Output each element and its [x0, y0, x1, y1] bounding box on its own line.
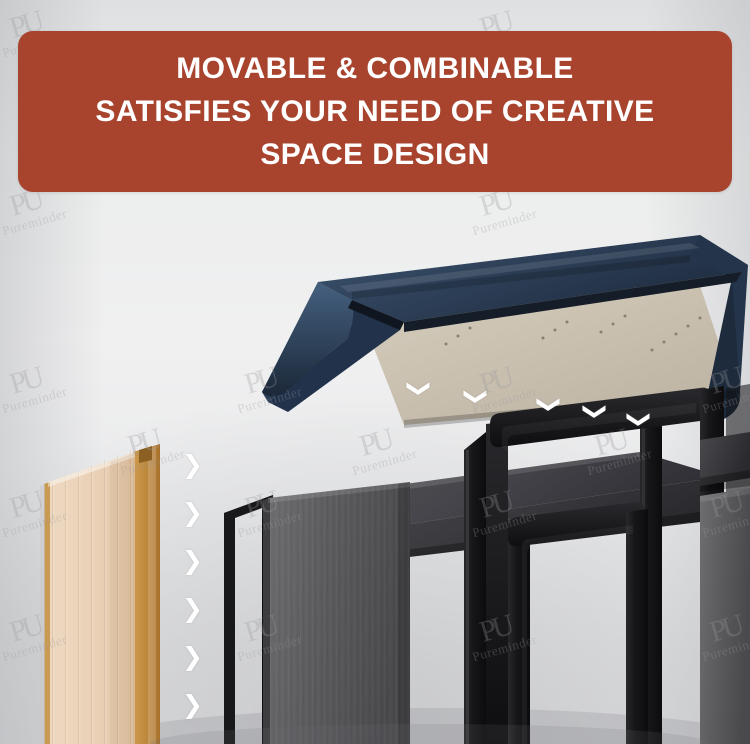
headline-line-3: SPACE DESIGN	[260, 133, 489, 176]
headline-line-2: SATISFIES YOUR NEED OF CREATIVE	[95, 90, 654, 133]
right-gray-panel	[700, 488, 750, 744]
black-metal-frame-lower	[508, 502, 648, 744]
headline-banner: MOVABLE & COMBINABLE SATISFIES YOUR NEED…	[18, 31, 732, 192]
product-poster: ❯ ❯ ❯ ❯ ❯ ❯ ❯ ❯ ❯ ❯ ❯ PUPureminderPUPure…	[0, 0, 750, 744]
gray-divider-panel	[260, 470, 420, 744]
wood-slat-panel	[40, 440, 160, 744]
headline-line-1: MOVABLE & COMBINABLE	[176, 47, 573, 90]
right-dark-board	[700, 432, 750, 492]
